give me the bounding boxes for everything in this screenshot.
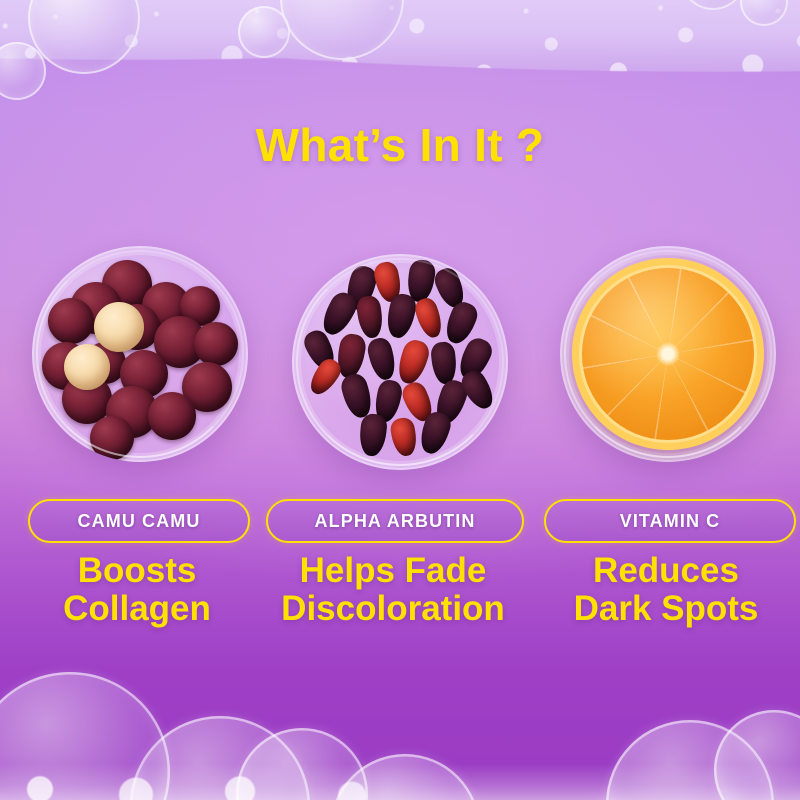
bubble-icon bbox=[0, 672, 170, 800]
foam-bubble-icon bbox=[238, 6, 290, 58]
foam-bubble-icon bbox=[740, 0, 788, 26]
foam-bubble-icon bbox=[28, 0, 140, 74]
benefit-line-2: Collagen bbox=[14, 590, 260, 628]
bubble-icon bbox=[606, 720, 774, 800]
mulberries bbox=[292, 254, 508, 470]
soap-foam-top-decoration bbox=[0, 0, 800, 116]
bubble-icon bbox=[130, 716, 310, 800]
orange-slice bbox=[572, 258, 764, 450]
foam-bubble-icon bbox=[0, 42, 46, 100]
benefit-line-1: Reduces bbox=[593, 551, 739, 590]
foam-texture bbox=[0, 0, 800, 116]
benefit-camu-camu: Boosts Collagen bbox=[14, 552, 260, 628]
badge-camu-camu[interactable]: CAMU CAMU bbox=[28, 499, 250, 543]
bowl-orange-slice bbox=[560, 246, 776, 462]
benefit-line-1: Boosts bbox=[78, 551, 197, 590]
benefit-line-2: Discoloration bbox=[266, 590, 520, 628]
foam-bubble-icon bbox=[280, 0, 404, 60]
benefit-alpha-arbutin: Helps Fade Discoloration bbox=[266, 552, 520, 628]
foam-bubble-icon bbox=[680, 0, 746, 10]
benefit-line-2: Dark Spots bbox=[538, 590, 794, 628]
poster-canvas: What’s In It ? bbox=[0, 0, 800, 800]
bowl-mulberries bbox=[292, 254, 508, 470]
page-title: What’s In It ? bbox=[0, 118, 800, 172]
soap-bubbles-bottom-decoration bbox=[0, 650, 800, 800]
badge-alpha-arbutin[interactable]: ALPHA ARBUTIN bbox=[266, 499, 524, 543]
bubble-icon bbox=[236, 728, 368, 800]
camu-camu-berries bbox=[32, 246, 248, 462]
bubble-icon bbox=[714, 710, 800, 800]
ingredient-badges-row: CAMU CAMU ALPHA ARBUTIN VITAMIN C bbox=[0, 499, 800, 541]
badge-vitamin-c[interactable]: VITAMIN C bbox=[544, 499, 796, 543]
bottom-foam-strip bbox=[0, 764, 800, 800]
ingredient-images-row bbox=[0, 244, 800, 464]
benefit-line-1: Helps Fade bbox=[300, 551, 487, 590]
bowl-camu-camu bbox=[32, 246, 248, 462]
benefits-row: Boosts Collagen Helps Fade Discoloration… bbox=[0, 552, 800, 652]
benefit-vitamin-c: Reduces Dark Spots bbox=[538, 552, 794, 628]
bubble-icon bbox=[330, 754, 480, 800]
